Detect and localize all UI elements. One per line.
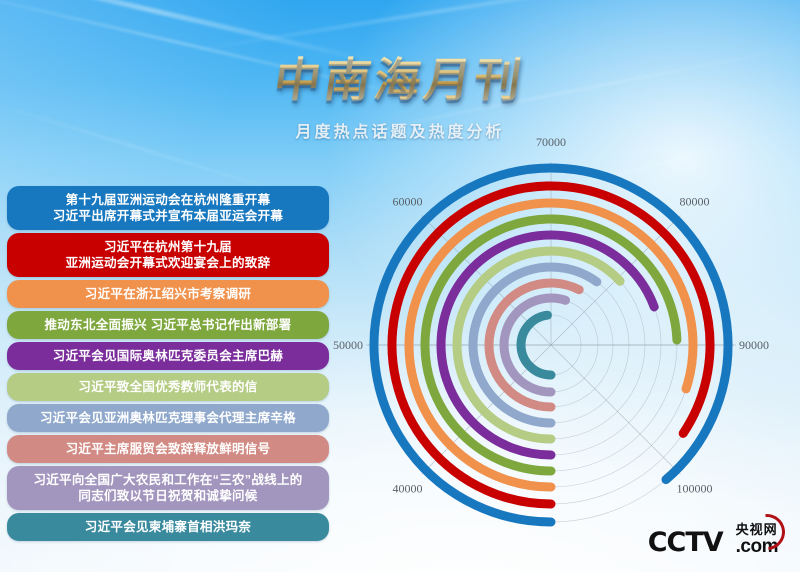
legend-item-label: 习近平主席服贸会致辞释放鲜明信号 [66,441,271,457]
axis-tick-label: 80000 [680,194,710,208]
legend-item-label: 习近平会见亚洲奥林匹克理事会代理主席辛格 [40,410,296,426]
legend-item-5[interactable]: 习近平致全国优秀教师代表的信 [7,373,329,401]
axis-tick-label: 90000 [739,338,769,352]
infographic-stage: 中南海月刊 月度热点话题及热度分析 第十九届亚洲运动会在杭州隆重开幕 习近平出席… [0,0,800,572]
axis-tick-label: 50000 [333,338,363,352]
legend-item-label: 第十九届亚洲运动会在杭州隆重开幕 习近平出席开幕式并宣布本届亚运会开幕 [53,192,283,224]
legend-item-label: 习近平致全国优秀教师代表的信 [78,379,257,395]
legend-item-1[interactable]: 习近平在杭州第十九届 亚洲运动会开幕式欢迎宴会上的致辞 [7,233,329,277]
legend-item-8[interactable]: 习近平向全国广大农民和工作在“三农”战线上的 同志们致以节日祝贺和诚挚问候 [7,466,329,510]
legend-item-label: 习近平在浙江绍兴市考察调研 [85,286,251,302]
legend-item-0[interactable]: 第十九届亚洲运动会在杭州隆重开幕 习近平出席开幕式并宣布本届亚运会开幕 [7,186,329,230]
radial-spiral-chart: 400005000060000700008000090000100000 [330,130,800,550]
legend-item-3[interactable]: 推动东北全面振兴 习近平总书记作出新部署 [7,311,329,339]
radial-chart-container: 400005000060000700008000090000100000 [330,130,800,550]
cctv-logo: CCTV 央视网 .com [648,523,778,556]
axis-tick-label: 60000 [392,194,422,208]
legend-item-4[interactable]: 习近平会见国际奥林匹克委员会主席巴赫 [7,342,329,370]
legend-item-2[interactable]: 习近平在浙江绍兴市考察调研 [7,280,329,308]
page-title: 中南海月刊 [264,44,535,110]
legend-item-label: 推动东北全面振兴 习近平总书记作出新部署 [45,317,292,333]
header: 中南海月刊 月度热点话题及热度分析 [0,44,800,142]
grid-spoke [551,345,680,474]
legend-item-label: 习近平会见国际奥林匹克委员会主席巴赫 [53,348,283,364]
legend-item-9[interactable]: 习近平会见柬埔寨首相洪玛奈 [7,513,329,541]
legend-item-label: 习近平在杭州第十九届 亚洲运动会开幕式欢迎宴会上的致辞 [66,239,271,271]
legend-item-label: 习近平向全国广大农民和工作在“三农”战线上的 同志们致以节日祝贺和诚挚问候 [33,472,302,504]
axis-tick-label: 40000 [392,482,422,496]
cctv-wordmark: CCTV [648,529,723,556]
axis-tick-label: 100000 [677,482,713,496]
axis-tick-label: 70000 [536,135,566,149]
legend-list: 第十九届亚洲运动会在杭州隆重开幕 习近平出席开幕式并宣布本届亚运会开幕习近平在杭… [7,186,329,544]
legend-item-7[interactable]: 习近平主席服贸会致辞释放鲜明信号 [7,435,329,463]
legend-item-label: 习近平会见柬埔寨首相洪玛奈 [85,519,251,535]
legend-item-6[interactable]: 习近平会见亚洲奥林匹克理事会代理主席辛格 [7,404,329,432]
